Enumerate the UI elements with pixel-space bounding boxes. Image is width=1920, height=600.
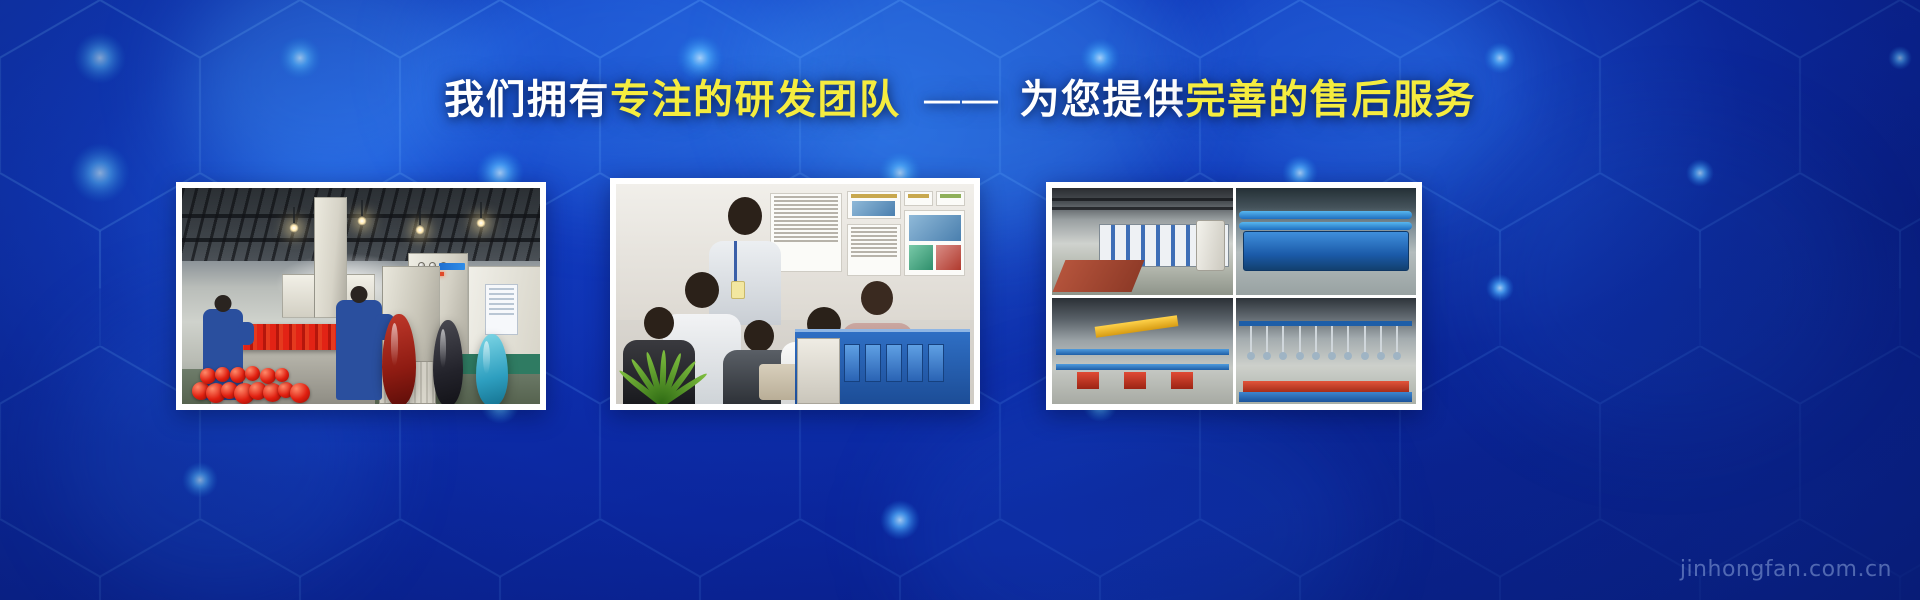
equipment-collage-photo[interactable] — [1046, 182, 1422, 410]
photo-inner — [1052, 188, 1416, 404]
headline-segment-2: 专注的研发团队 — [610, 77, 901, 123]
decorative-vase-dark — [433, 320, 463, 404]
person-head — [685, 272, 719, 308]
collage-cell-conveyor — [1052, 298, 1233, 405]
promotional-banner: 我们拥有专注的研发团队 —— 为您提供完善的售后服务 — [0, 0, 1920, 600]
production-line-photo[interactable] — [176, 182, 546, 410]
worker-arm — [238, 322, 254, 346]
wall-poster — [936, 191, 965, 206]
factory-scene — [182, 188, 540, 404]
photo-inner — [616, 184, 974, 404]
collage-grid — [1052, 188, 1416, 404]
machine-label — [439, 263, 465, 270]
collage-cell-blue-tunnel — [1236, 188, 1417, 295]
ceiling-lamp-icon — [415, 225, 425, 235]
page-title: 我们拥有专注的研发团队 —— 为您提供完善的售后服务 — [0, 80, 1920, 120]
site-watermark: jinhongfan.com.cn — [1680, 557, 1892, 582]
info-card — [485, 284, 517, 335]
person-head — [728, 197, 762, 235]
headline-separator: —— — [916, 77, 1004, 123]
roof-beam — [182, 238, 540, 242]
worker-figure — [336, 300, 383, 399]
team-meeting-photo[interactable] — [610, 178, 980, 410]
palm-plant — [620, 329, 699, 404]
headline-segment-4: 为您提供 — [1019, 77, 1185, 123]
decorative-vase-cyan — [476, 334, 508, 404]
person-head — [744, 320, 774, 352]
ceiling-lamp-icon — [289, 223, 299, 233]
wall-poster — [904, 210, 965, 276]
wall-poster — [847, 224, 901, 277]
worker-head — [215, 295, 232, 312]
photo-inner — [182, 188, 540, 404]
wall-poster — [770, 193, 842, 272]
collage-cell-hanging-line — [1236, 298, 1417, 405]
wall-poster — [847, 191, 901, 220]
equipment-cabinet — [797, 338, 840, 404]
ceiling-lamp-icon — [476, 218, 486, 228]
headline-segment-5: 完善的售后服务 — [1185, 77, 1476, 123]
meeting-scene — [616, 184, 974, 404]
red-glass-balls — [189, 348, 339, 404]
headline-segment-1: 我们拥有 — [444, 77, 610, 123]
collage-cell-workshop — [1052, 188, 1233, 295]
worker-head — [351, 286, 368, 303]
wall-poster — [904, 191, 933, 206]
